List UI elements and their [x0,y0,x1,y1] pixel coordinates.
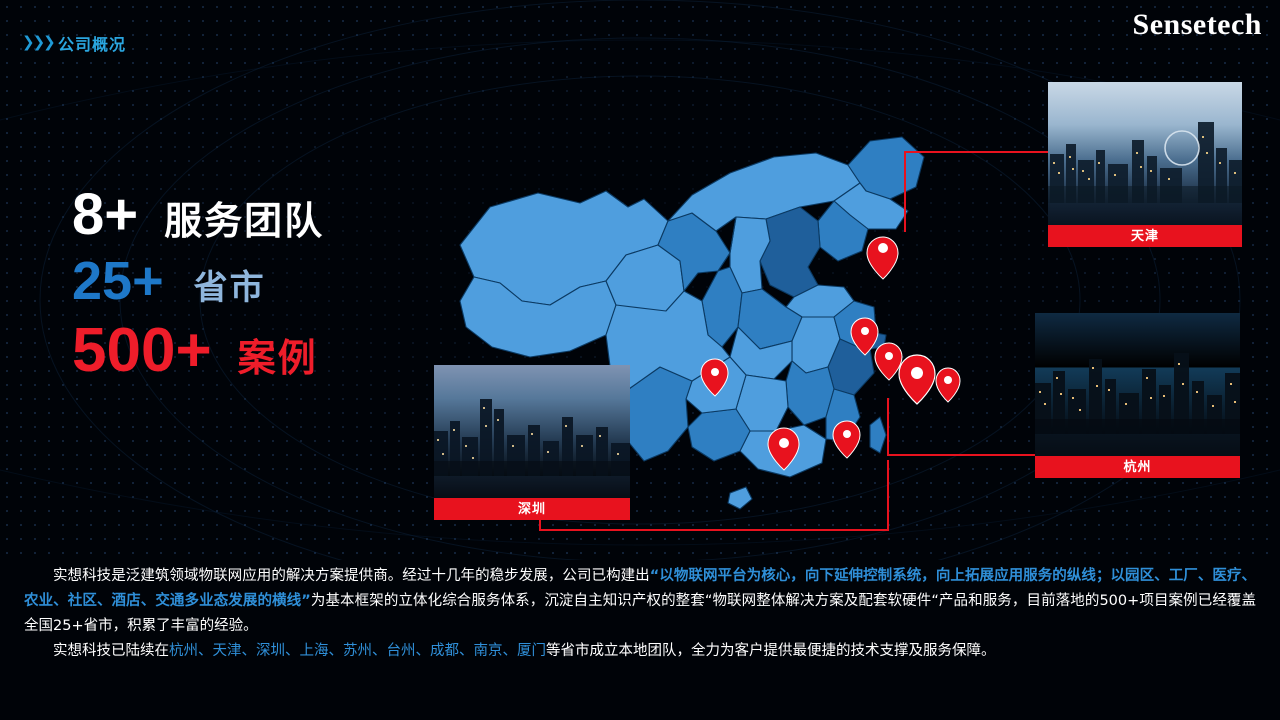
p1-part-a: 实想科技是泛建筑领域物联网应用的解决方案提供商。经过十几年的稳步发展，公司已构建… [53,568,650,584]
p2-part-a: 实想科技已陆续在 [53,643,169,659]
stats-block: 8+ 服务团队 25+ 省市 500+ 案例 [72,186,452,388]
stat-label: 服务团队 [164,203,324,241]
city-caption: 杭州 [1035,456,1240,478]
city-photo [434,365,630,498]
page-header: ❯❯❯ 公司概况 Sensetech [0,0,1280,62]
page-title: 公司概况 [58,31,126,55]
stat-number: 500+ [72,320,212,382]
city-card-shenzhen[interactable]: 深圳 [434,365,630,498]
brand-logo: Sensetech [1133,8,1262,42]
paragraph-1: 实想科技是泛建筑领域物联网应用的解决方案提供商。经过十几年的稳步发展，公司已构建… [24,564,1256,639]
stat-row: 8+ 服务团队 [72,186,452,244]
p2-part-c: 等省市成立本地团队，全力为客户提供最便捷的技术支撑及服务保障。 [546,643,996,659]
stat-number: 25+ [72,254,164,308]
city-photo [1035,313,1240,456]
p2-highlight: 杭州、天津、深圳、上海、苏州、台州、成都、南京、厦门 [169,643,546,659]
triple-chevron-icon: ❯❯❯ [22,33,54,51]
stat-label: 案例 [238,340,318,378]
city-caption: 天津 [1048,225,1242,247]
stat-label: 省市 [194,271,266,305]
city-card-hangzhou[interactable]: 杭州 [1035,313,1240,456]
city-card-tianjin[interactable]: 天津 [1048,82,1242,225]
city-photo [1048,82,1242,225]
paragraph-2: 实想科技已陆续在杭州、天津、深圳、上海、苏州、台州、成都、南京、厦门等省市成立本… [24,639,1256,664]
stat-row: 25+ 省市 [72,254,452,308]
body-text-block: 实想科技是泛建筑领域物联网应用的解决方案提供商。经过十几年的稳步发展，公司已构建… [0,556,1280,720]
stat-row: 500+ 案例 [72,320,452,382]
city-caption: 深圳 [434,498,630,520]
stat-number: 8+ [72,186,138,244]
